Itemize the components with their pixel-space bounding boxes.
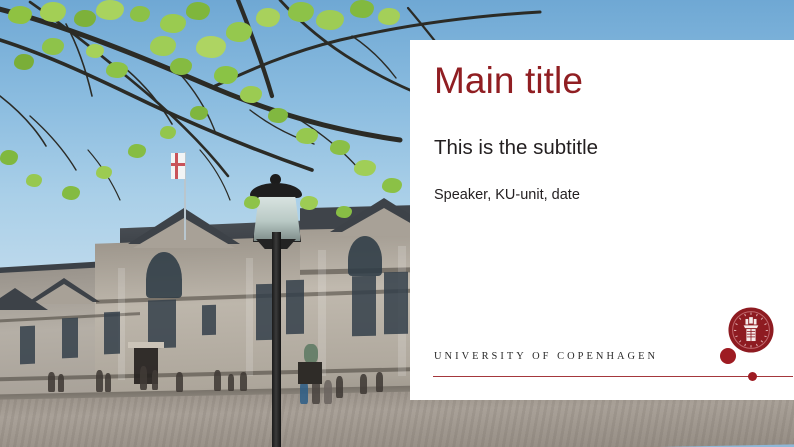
leaf-cluster (8, 6, 32, 24)
leaf-cluster (300, 196, 318, 210)
leaf-cluster (128, 144, 146, 158)
leaf-cluster (268, 108, 288, 123)
leaf-cluster (160, 126, 176, 139)
title-slide: Main title This is the subtitle Speaker,… (0, 0, 794, 447)
person (48, 372, 55, 392)
ku-seal-icon (728, 307, 774, 353)
leaf-cluster (130, 6, 150, 22)
person (176, 372, 183, 392)
person (336, 376, 343, 398)
lamp-post (272, 232, 281, 447)
pilaster-3 (318, 250, 326, 376)
statue-plinth (298, 362, 322, 384)
person (214, 370, 221, 391)
person (58, 374, 64, 392)
leaf-cluster (296, 128, 318, 144)
person (152, 370, 158, 390)
speaker-line: Speaker, KU-unit, date (434, 187, 580, 203)
window-5 (352, 276, 376, 337)
leaf-cluster (86, 44, 104, 58)
window-4 (286, 280, 304, 335)
content-panel: Main title This is the subtitle Speaker,… (410, 40, 794, 400)
person (228, 374, 234, 391)
window-7 (62, 318, 78, 359)
leaf-cluster (196, 36, 226, 58)
window-9 (104, 312, 120, 355)
person (360, 374, 367, 394)
leaf-cluster (350, 0, 374, 18)
leaf-cluster (186, 2, 210, 20)
person (140, 366, 147, 390)
leaf-cluster (244, 196, 260, 209)
statue (304, 344, 318, 364)
leaf-cluster (42, 38, 64, 55)
leaf-cluster (354, 160, 376, 176)
leaf-cluster (288, 2, 314, 22)
person (324, 380, 332, 404)
leaf-cluster (240, 86, 262, 103)
leaf-cluster (336, 206, 352, 218)
leaf-cluster (226, 22, 252, 42)
university-name: UNIVERSITY OF COPENHAGEN (434, 351, 658, 362)
subtitle: This is the subtitle (434, 136, 598, 160)
red-dot-large-icon (720, 348, 736, 364)
leaf-cluster (62, 186, 80, 200)
person (96, 370, 103, 392)
entrance-lintel (128, 342, 164, 348)
person (240, 372, 247, 391)
person (105, 373, 111, 392)
leaf-cluster (316, 10, 344, 30)
window-8 (20, 326, 35, 365)
person (376, 372, 383, 392)
window-2 (202, 305, 216, 335)
leaf-cluster (160, 14, 186, 33)
leaf-cluster (26, 174, 42, 187)
leaf-cluster (256, 8, 280, 27)
pilaster-2 (246, 258, 253, 376)
leaf-cluster (170, 58, 192, 75)
leaf-cluster (382, 178, 402, 193)
page-title: Main title (434, 62, 583, 101)
leaf-cluster (330, 140, 350, 155)
leaf-cluster (74, 10, 96, 27)
leaf-cluster (378, 8, 400, 25)
leaf-cluster (14, 54, 34, 70)
horizontal-rule (433, 376, 793, 377)
leaf-cluster (96, 166, 112, 179)
red-dot-small-icon (748, 372, 757, 381)
leaf-cluster (106, 62, 128, 78)
leaf-cluster (96, 0, 124, 20)
leaf-cluster (150, 36, 176, 56)
leaf-cluster (40, 2, 66, 22)
leaf-cluster (214, 66, 238, 84)
leaf-cluster (0, 150, 18, 165)
window-6 (384, 272, 408, 335)
leaf-cluster (190, 106, 208, 120)
